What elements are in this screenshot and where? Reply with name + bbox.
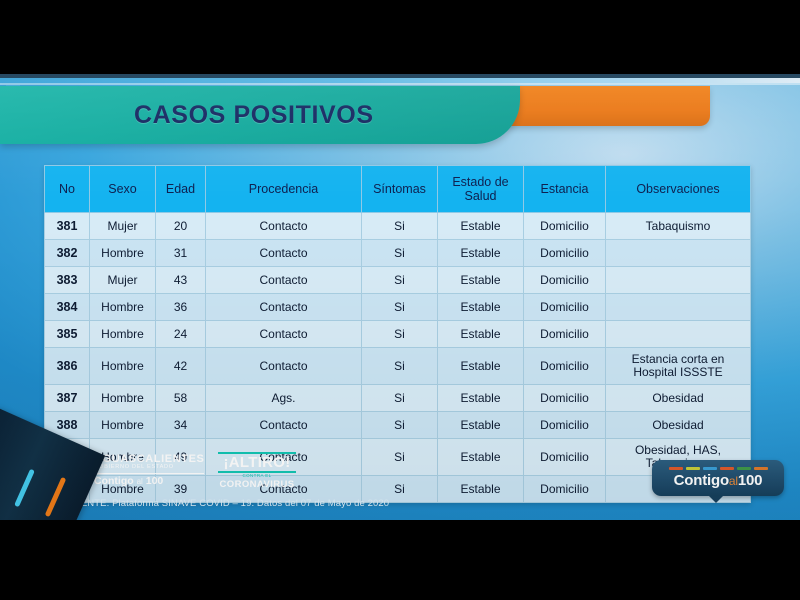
cell-sintomas: Si (362, 213, 438, 240)
title-banner: CASOS POSITIVOS (0, 86, 520, 144)
ags-slogan-al: al (137, 477, 143, 486)
table-row: 387 Hombre 58 Ags. Si Estable Domicilio … (45, 385, 751, 412)
cell-sintomas: Si (362, 348, 438, 385)
cell-estancia: Domicilio (524, 240, 606, 267)
column-header-procedencia[interactable]: Procedencia (206, 166, 362, 213)
cell-sintomas: Si (362, 412, 438, 439)
column-header-edad[interactable]: Edad (156, 166, 206, 213)
cell-observaciones (606, 240, 751, 267)
cell-edad: 43 (156, 267, 206, 294)
cell-estancia: Domicilio (524, 294, 606, 321)
table-row: 384 Hombre 36 Contacto Si Estable Domici… (45, 294, 751, 321)
cell-edad: 31 (156, 240, 206, 267)
badge-color-dashes (669, 467, 768, 470)
cell-estancia: Domicilio (524, 267, 606, 294)
cell-observaciones (606, 294, 751, 321)
badge-num: 100 (738, 472, 762, 489)
cell-estado-salud: Estable (438, 267, 524, 294)
cell-sintomas: Si (362, 439, 438, 476)
screenshot-canvas: CASOS POSITIVOS No Sexo Edad Procedencia… (0, 0, 800, 600)
cell-procedencia: Contacto (206, 240, 362, 267)
cell-estado-salud: Estable (438, 294, 524, 321)
page-title: CASOS POSITIVOS (134, 101, 374, 130)
cell-no: 382 (45, 240, 90, 267)
cell-edad: 20 (156, 213, 206, 240)
altiro-coronavirus-label: CORONAVIRUS (220, 480, 295, 490)
cell-estancia: Domicilio (524, 385, 606, 412)
cell-estancia: Domicilio (524, 321, 606, 348)
cell-procedencia: Contacto (206, 348, 362, 385)
table-row: 382 Hombre 31 Contacto Si Estable Domici… (45, 240, 751, 267)
cell-sexo: Hombre (90, 321, 156, 348)
cell-sexo: Hombre (90, 240, 156, 267)
cell-no: 381 (45, 213, 90, 240)
cell-sexo: Mujer (90, 213, 156, 240)
badge-al: al (729, 474, 738, 488)
cell-edad: 58 (156, 385, 206, 412)
column-header-estancia[interactable]: Estancia (524, 166, 606, 213)
ags-slogan: Contigo al 100 (94, 476, 204, 487)
table-row: 381 Mujer 20 Contacto Si Estable Domicil… (45, 213, 751, 240)
cell-sexo: Mujer (90, 267, 156, 294)
column-header-observaciones[interactable]: Observaciones (606, 166, 751, 213)
table-row: 383 Mujer 43 Contacto Si Estable Domicil… (45, 267, 751, 294)
cell-sintomas: Si (362, 294, 438, 321)
table-row: 386 Hombre 42 Contacto Si Estable Domici… (45, 348, 751, 385)
ags-divider (94, 473, 204, 475)
cell-estado-salud: Estable (438, 385, 524, 412)
cell-estancia: Domicilio (524, 412, 606, 439)
cell-estado-salud: Estable (438, 439, 524, 476)
column-header-sexo[interactable]: Sexo (90, 166, 156, 213)
cell-sexo: Hombre (90, 294, 156, 321)
altiro-wordmark: ¡ALTIRO! (218, 452, 295, 473)
cell-observaciones: Estancia corta en Hospital ISSSTE (606, 348, 751, 385)
cell-estado-salud: Estable (438, 321, 524, 348)
cell-estado-salud: Estable (438, 213, 524, 240)
cell-procedencia: Contacto (206, 213, 362, 240)
contigo-al-100-badge: Contigoal100 (652, 460, 784, 496)
altiro-logo: ¡ALTIRO! CONTRA EL CORONAVIRUS (218, 452, 295, 489)
badge-label: Contigoal100 (674, 472, 763, 489)
altiro-tagline: CONTRA EL (242, 474, 271, 479)
cell-estado-salud: Estable (438, 476, 524, 503)
cell-sintomas: Si (362, 321, 438, 348)
ags-government-line: GOBIERNO DEL ESTADO (94, 465, 204, 471)
column-header-no[interactable]: No (45, 166, 90, 213)
cell-sexo: Hombre (90, 412, 156, 439)
cell-observaciones (606, 267, 751, 294)
cell-sintomas: Si (362, 240, 438, 267)
cell-estancia: Domicilio (524, 213, 606, 240)
cell-sexo: Hombre (90, 348, 156, 385)
cell-observaciones: Obesidad (606, 385, 751, 412)
source-note: FUENTE. Plataforma SINAVE COVID – 19. Da… (68, 498, 389, 509)
cell-procedencia: Ags. (206, 385, 362, 412)
column-header-estado-salud[interactable]: Estado de Salud (438, 166, 524, 213)
cell-estancia: Domicilio (524, 348, 606, 385)
cell-estado-salud: Estable (438, 348, 524, 385)
cell-estancia: Domicilio (524, 476, 606, 503)
cell-no: 386 (45, 348, 90, 385)
cell-observaciones: Tabaquismo (606, 213, 751, 240)
cell-procedencia: Contacto (206, 294, 362, 321)
presentation-slide: CASOS POSITIVOS No Sexo Edad Procedencia… (0, 74, 800, 520)
cell-no: 384 (45, 294, 90, 321)
cell-sintomas: Si (362, 267, 438, 294)
cell-edad: 24 (156, 321, 206, 348)
ags-slogan-num: 100 (146, 475, 164, 487)
ags-slogan-main: Contigo (94, 475, 134, 487)
badge-main: Contigo (674, 472, 729, 489)
cell-no: 385 (45, 321, 90, 348)
cell-observaciones: Obesidad (606, 412, 751, 439)
cell-edad: 34 (156, 412, 206, 439)
cell-sintomas: Si (362, 385, 438, 412)
cell-edad: 36 (156, 294, 206, 321)
cell-sexo: Hombre (90, 385, 156, 412)
table-row: 385 Hombre 24 Contacto Si Estable Domici… (45, 321, 751, 348)
cell-procedencia: Contacto (206, 321, 362, 348)
column-header-sintomas[interactable]: Síntomas (362, 166, 438, 213)
aguascalientes-wordmark: AGUASCALIENTES GOBIERNO DEL ESTADO Conti… (94, 454, 204, 488)
cell-edad: 42 (156, 348, 206, 385)
table-row: 388 Hombre 34 Contacto Si Estable Domici… (45, 412, 751, 439)
cell-procedencia: Contacto (206, 267, 362, 294)
cell-estancia: Domicilio (524, 439, 606, 476)
table-header-row: No Sexo Edad Procedencia Síntomas Estado… (45, 166, 751, 213)
slide-top-edge-line (0, 83, 800, 85)
cell-estado-salud: Estable (438, 240, 524, 267)
cell-observaciones (606, 321, 751, 348)
cell-procedencia: Contacto (206, 412, 362, 439)
cell-no: 387 (45, 385, 90, 412)
cell-no: 383 (45, 267, 90, 294)
cell-estado-salud: Estable (438, 412, 524, 439)
